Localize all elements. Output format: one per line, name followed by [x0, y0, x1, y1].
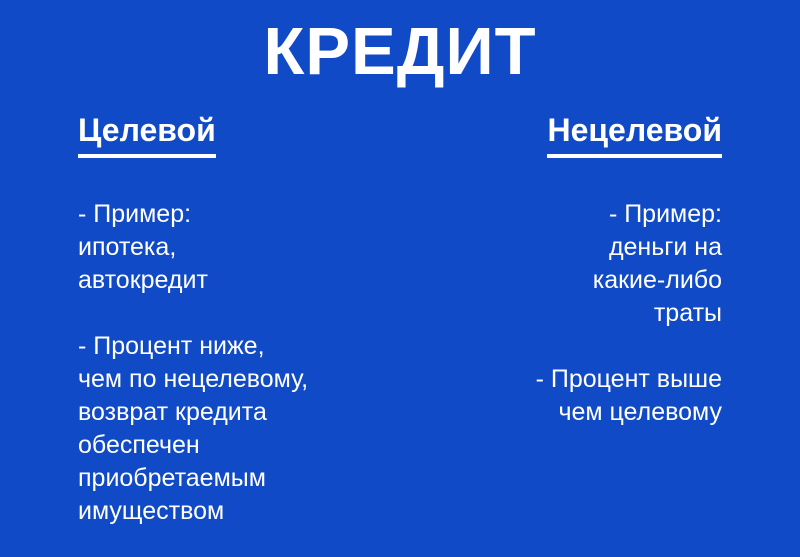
slide-title: КРЕДИТ [0, 12, 800, 92]
bullet-block-targeted-example: - Пример: ипотека, автокредит [78, 198, 408, 297]
bullet-line: чем по нецелевому, [78, 363, 408, 396]
bullet-line: возврат кредита [78, 396, 408, 429]
bullet-line: автокредит [78, 264, 408, 297]
column-heading-non-targeted: Нецелевой [547, 110, 722, 158]
bullet-block-non-targeted-rate: - Процент выше чем целевому [422, 363, 722, 429]
bullet-line: приобретаемым [78, 462, 408, 495]
bullet-line: траты [422, 297, 722, 330]
column-heading-non-targeted-label: Нецелевой [547, 110, 722, 158]
bullet-line: чем целевому [422, 396, 722, 429]
bullet-line: имуществом [78, 495, 408, 528]
column-body-targeted: - Пример: ипотека, автокредит - Процент … [78, 198, 408, 528]
column-body-non-targeted: - Пример: деньги на какие-либо траты - П… [422, 198, 722, 429]
bullet-line: какие-либо [422, 264, 722, 297]
bullet-block-targeted-rate: - Процент ниже, чем по нецелевому, возвр… [78, 330, 408, 528]
bullet-line: - Процент ниже, [78, 330, 408, 363]
slide-root: КРЕДИТ Целевой Нецелевой - Пример: ипоте… [0, 0, 800, 557]
bullet-line: - Пример: [422, 198, 722, 231]
bullet-line: ипотека, [78, 231, 408, 264]
column-heading-targeted-label: Целевой [78, 110, 216, 158]
bullet-line: деньги на [422, 231, 722, 264]
bullet-line: - Пример: [78, 198, 408, 231]
bullet-line: - Процент выше [422, 363, 722, 396]
column-heading-targeted: Целевой [78, 110, 216, 158]
bullet-block-non-targeted-example: - Пример: деньги на какие-либо траты [422, 198, 722, 330]
bullet-line: обеспечен [78, 429, 408, 462]
